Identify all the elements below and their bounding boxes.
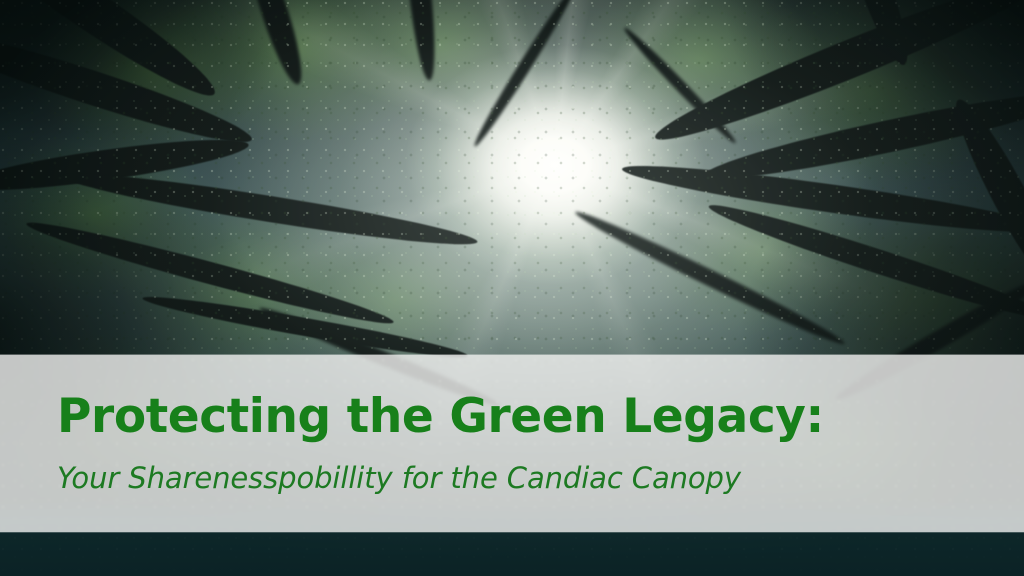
title-slide: Protecting the Green Legacy: Your Sharen… [0, 0, 1024, 576]
headline-text: Protecting the Green Legacy: [57, 392, 984, 442]
caption-band: Protecting the Green Legacy: Your Sharen… [0, 355, 1024, 532]
subheadline-text: Your Sharenesspobillity for the Candiac … [57, 462, 984, 494]
